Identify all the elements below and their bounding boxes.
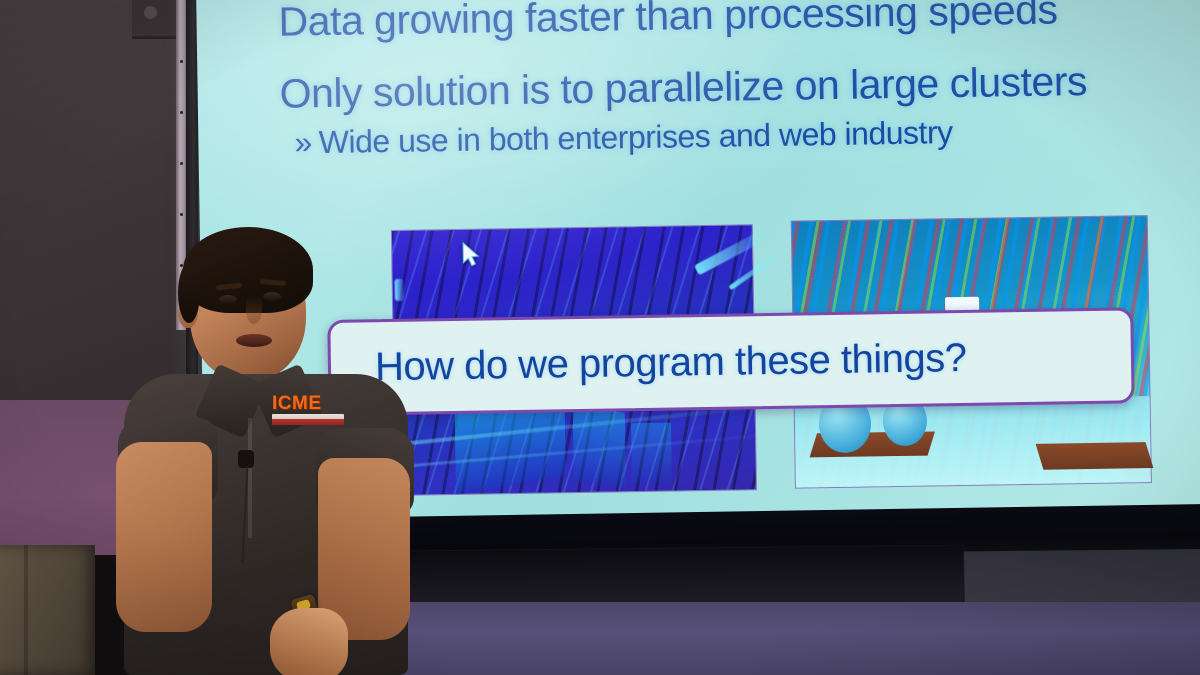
presenter-hand-left [172, 594, 246, 670]
slide-line-3-label: Wide use in both enterprises and web ind… [318, 114, 952, 160]
callout-text: How do we program these things? [375, 335, 967, 389]
presenter-eye-right [263, 292, 281, 301]
presenter-eye-left [219, 295, 237, 304]
slide-line-3: »Wide use in both enterprises and web in… [294, 114, 953, 161]
presenter: ICME [120, 222, 420, 675]
presenter-shirt-placket [248, 418, 252, 538]
shirt-logo-word: ICME [272, 394, 344, 413]
presentation-photo-scene: Data growing faster than processing spee… [0, 0, 1200, 675]
bullet-marker-icon: » [294, 124, 312, 160]
draped-table [0, 545, 95, 675]
callout-box: How do we program these things? [327, 307, 1134, 416]
presenter-hand-right [270, 608, 348, 675]
slide-line-2: Only solution is to parallelize on large… [279, 58, 1087, 118]
shirt-logo: ICME [272, 394, 344, 430]
shirt-logo-bar [272, 414, 344, 425]
slide-line-1: Data growing faster than processing spee… [278, 0, 1058, 46]
presenter-mouth [236, 334, 272, 347]
presenter-nose [246, 296, 262, 324]
